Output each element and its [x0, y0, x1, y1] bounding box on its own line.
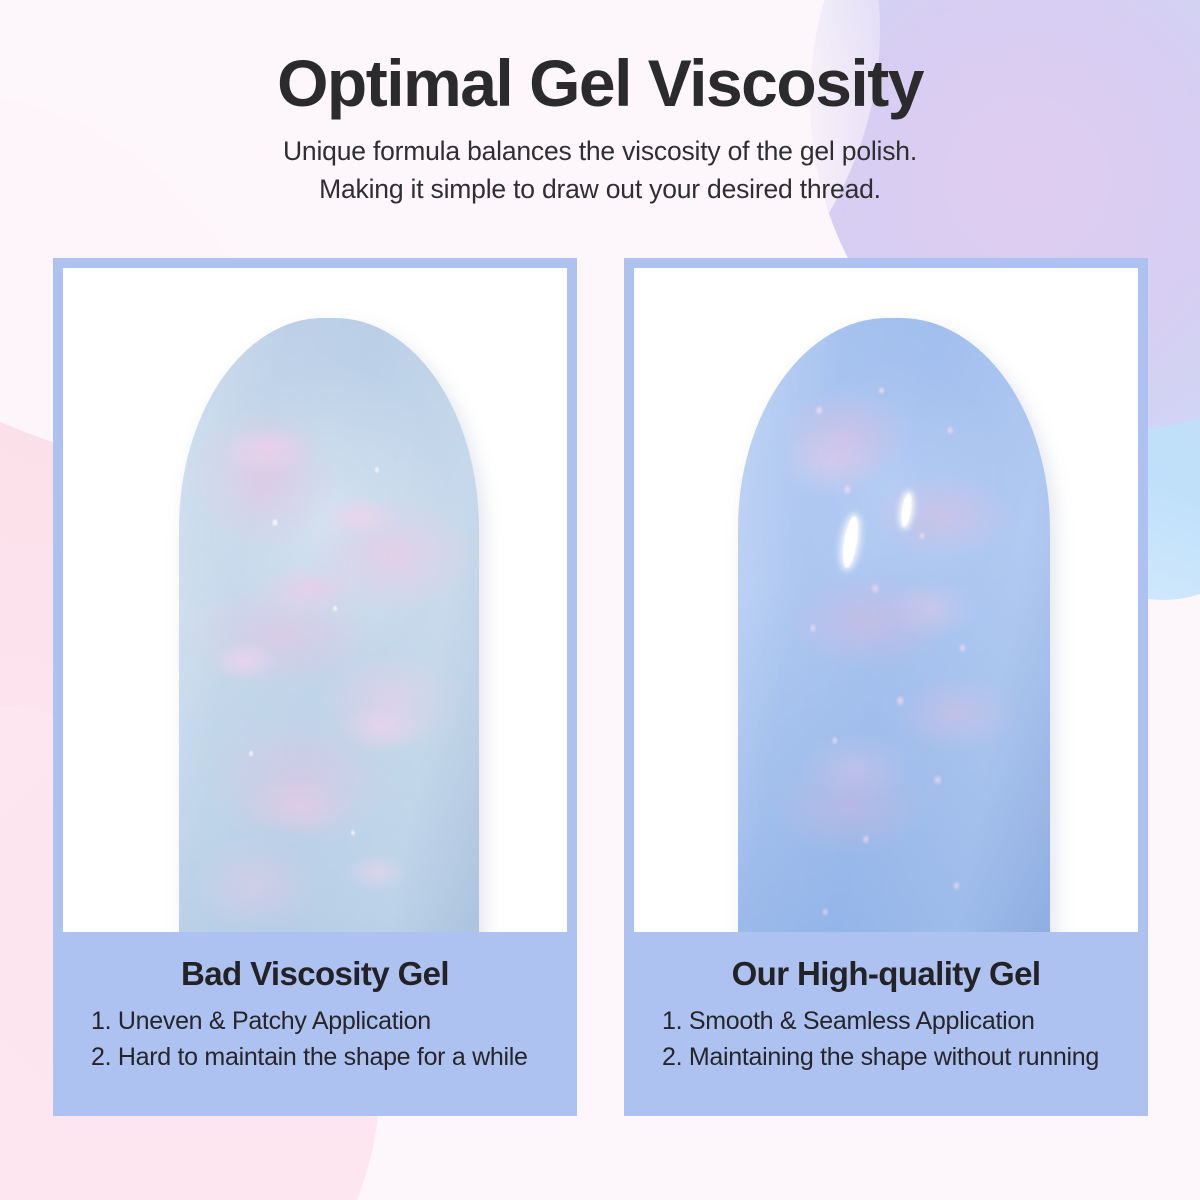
header: Optimal Gel Viscosity Unique formula bal…: [0, 46, 1200, 208]
shimmer-overlay: [738, 318, 1050, 932]
list-item-text: Uneven & Patchy Application: [118, 1007, 431, 1035]
photo-our-high-quality-gel: [634, 268, 1138, 932]
photo-bad-viscosity-gel: [63, 268, 567, 932]
caption-title: Bad Viscosity Gel: [63, 954, 567, 994]
product-comparison-infographic: Optimal Gel Viscosity Unique formula bal…: [0, 0, 1200, 1200]
list-item: 2. Maintaining the shape without running: [662, 1040, 1122, 1075]
caption-title: Our High-quality Gel: [634, 954, 1138, 994]
nail-swatch-bad-icon: [179, 318, 479, 932]
caption-our-high-quality-gel: Our High-quality Gel 1. Smooth & Seamles…: [634, 932, 1138, 1106]
list-item-number: 1.: [91, 1007, 111, 1035]
nail-swatch-good-icon: [738, 318, 1050, 932]
page-subtitle: Unique formula balances the viscosity of…: [0, 132, 1200, 208]
list-item: 2. Hard to maintain the shape for a whil…: [91, 1040, 551, 1075]
feature-list: 1. Uneven & Patchy Application 2. Hard t…: [63, 1004, 567, 1075]
feature-list: 1. Smooth & Seamless Application 2. Main…: [634, 1004, 1138, 1075]
page-title: Optimal Gel Viscosity: [0, 46, 1200, 120]
caption-bad-viscosity-gel: Bad Viscosity Gel 1. Uneven & Patchy App…: [63, 932, 567, 1106]
list-item-number: 2.: [91, 1043, 111, 1071]
comparison-cards: Bad Viscosity Gel 1. Uneven & Patchy App…: [53, 258, 1148, 1116]
card-bad-viscosity-gel: Bad Viscosity Gel 1. Uneven & Patchy App…: [53, 258, 577, 1116]
subtitle-line-2: Making it simple to draw out your desire…: [0, 170, 1200, 208]
list-item-text: Maintaining the shape without running: [689, 1043, 1099, 1071]
uneven-patches-overlay: [179, 318, 479, 932]
list-item: 1. Smooth & Seamless Application: [662, 1004, 1122, 1039]
list-item-text: Hard to maintain the shape for a while: [118, 1043, 528, 1071]
specular-highlight-large-icon: [840, 515, 861, 568]
subtitle-line-1: Unique formula balances the viscosity of…: [0, 132, 1200, 170]
card-our-high-quality-gel: Our High-quality Gel 1. Smooth & Seamles…: [624, 258, 1148, 1116]
list-item: 1. Uneven & Patchy Application: [91, 1004, 551, 1039]
list-item-text: Smooth & Seamless Application: [689, 1007, 1035, 1035]
list-item-number: 1.: [662, 1007, 682, 1035]
specular-highlight-small-icon: [899, 492, 913, 527]
list-item-number: 2.: [662, 1043, 682, 1071]
